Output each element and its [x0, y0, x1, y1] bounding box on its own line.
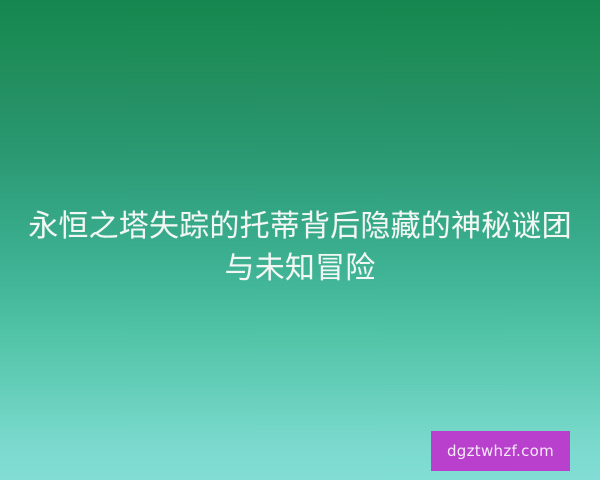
watermark-label: dgztwhzf.com: [447, 444, 554, 459]
watermark-badge: dgztwhzf.com: [431, 431, 570, 471]
cover-image: 永恒之塔失踪的托蒂背后隐藏的神秘谜团与未知冒险 dgztwhzf.com: [0, 0, 600, 480]
page-title: 永恒之塔失踪的托蒂背后隐藏的神秘谜团与未知冒险: [0, 206, 600, 290]
